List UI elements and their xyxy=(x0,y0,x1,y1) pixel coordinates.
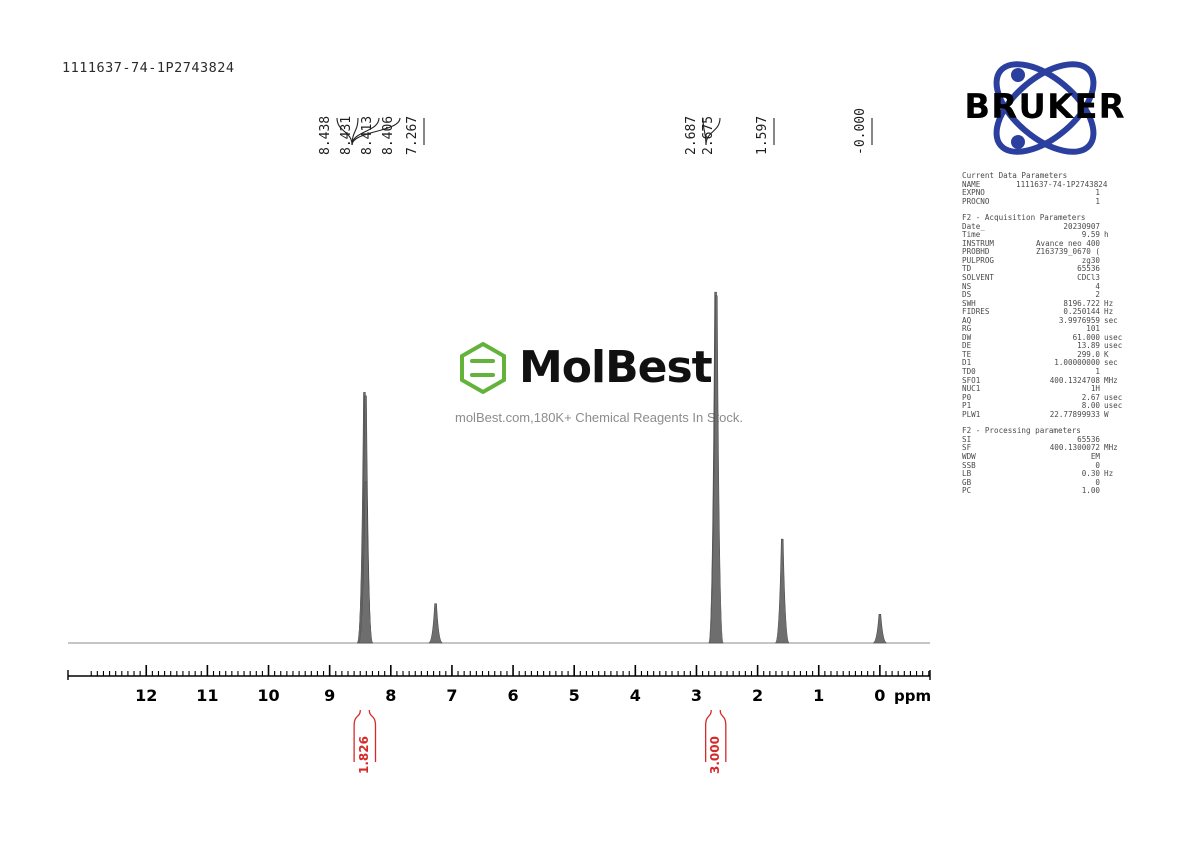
integral-value: 3.000 xyxy=(708,736,722,774)
integral-label-layer: 1.8263.000 xyxy=(0,0,1190,842)
integral-value: 1.826 xyxy=(357,736,371,774)
